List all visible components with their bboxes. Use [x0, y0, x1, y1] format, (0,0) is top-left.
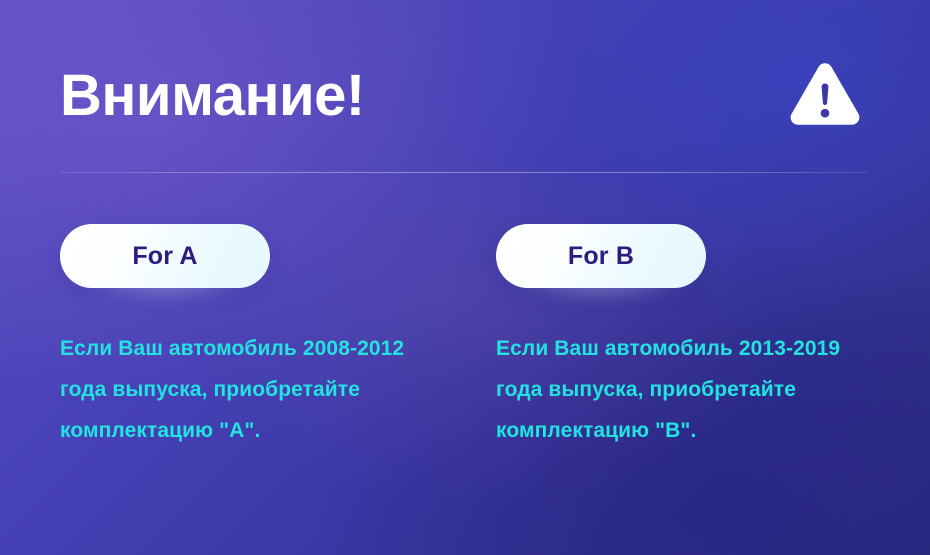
banner-header: Внимание! — [60, 48, 868, 144]
for-b-button-label: For B — [568, 244, 634, 269]
header-divider — [60, 172, 868, 173]
for-a-button-label: For A — [132, 244, 197, 269]
attention-banner: Внимание! For A Если Ваш автомобиль 2008… — [0, 0, 930, 555]
options-columns: For A Если Ваш автомобиль 2008-2012 года… — [60, 224, 890, 451]
option-a-description: Если Ваш автомобиль 2008-2012 года выпус… — [60, 328, 440, 451]
page-title: Внимание! — [60, 66, 365, 127]
option-column-b: For B Если Ваш автомобиль 2013-2019 года… — [496, 224, 706, 451]
for-b-button-wrapper: For B — [496, 224, 706, 288]
option-column-a: For A Если Ваш автомобиль 2008-2012 года… — [60, 224, 270, 451]
for-a-button-wrapper: For A — [60, 224, 270, 288]
warning-triangle-icon — [788, 61, 862, 131]
for-b-button[interactable]: For B — [496, 224, 706, 288]
option-b-description: Если Ваш автомобиль 2013-2019 года выпус… — [496, 328, 876, 451]
for-a-button[interactable]: For A — [60, 224, 270, 288]
